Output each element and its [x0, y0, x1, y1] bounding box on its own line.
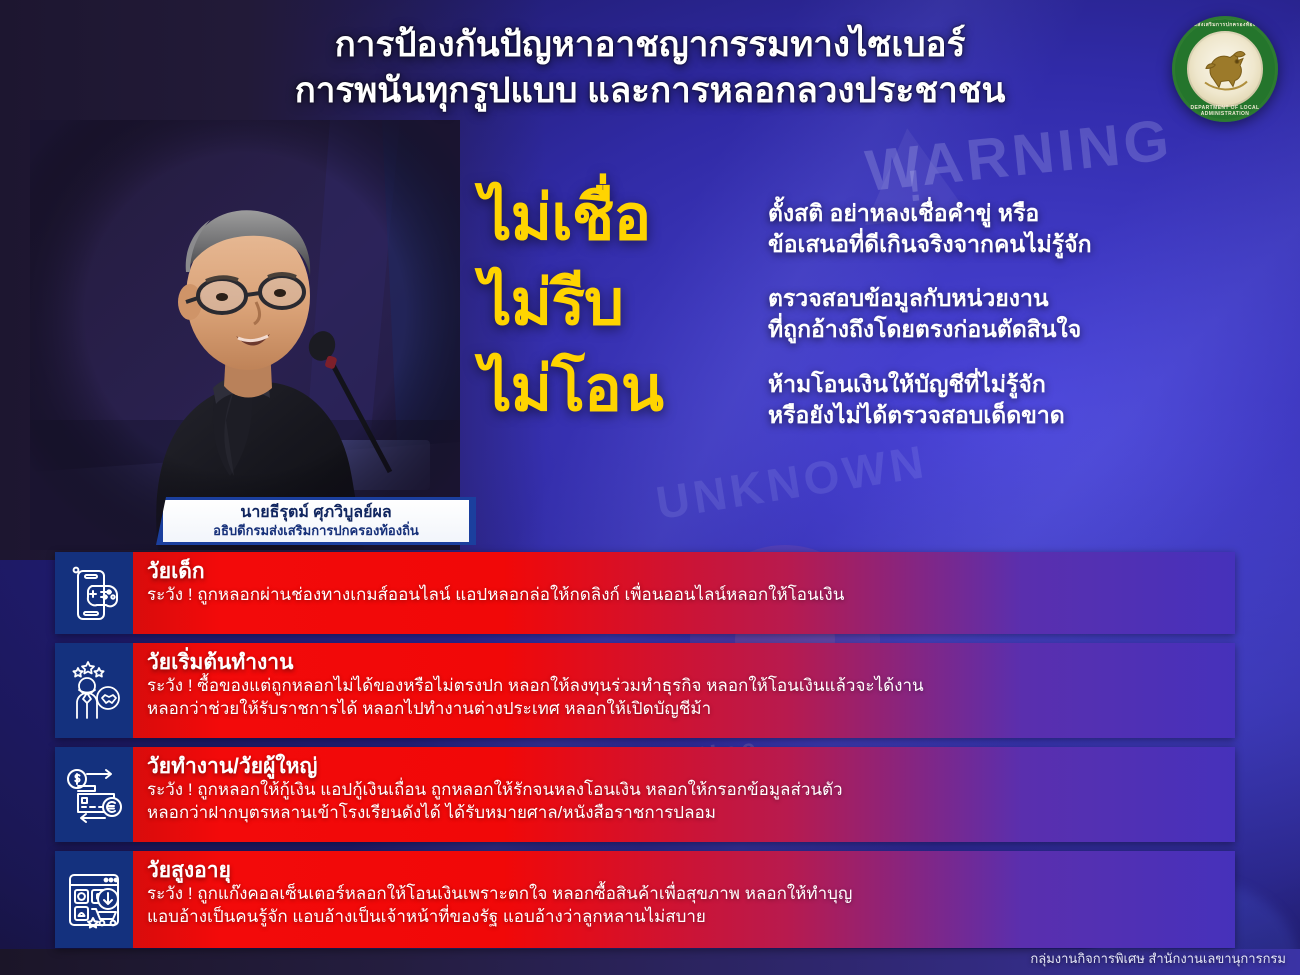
lion-emblem-icon [1193, 35, 1257, 104]
slogan-desc-line-2: ข้อเสนอที่ดีเกินจริงจากคนไม่รู้จัก [768, 229, 1270, 260]
age-group-content: วัยเริ่มต้นทำงาน ระวัง ! ซื้อของแต่ถูกหล… [133, 643, 1235, 738]
slogan-description: ห้ามโอนเงินให้บัญชีที่ไม่รู้จัก หรือยังไ… [768, 357, 1270, 432]
age-group-row: วัยสูงอายุ ระวัง ! ถูกแก๊งคอลเซ็นเตอร์หล… [55, 851, 1235, 948]
age-group-title: วัยเด็ก [147, 559, 1223, 584]
title-line-1: การป้องกันปัญหาอาชญากรรมทางไซเบอร์ [150, 22, 1150, 68]
slogan-item: ไม่เชื่อ ตั้งสติ อย่าหลงเชื่อคำขู่ หรือ … [480, 186, 1270, 261]
age-group-row: วัยเด็ก ระวัง ! ถูกหลอกผ่านช่องทางเกมส์อ… [55, 552, 1235, 634]
infographic-poster: WARNING UNKNOWN Decline Accept [0, 0, 1300, 975]
page-title: การป้องกันปัญหาอาชญากรรมทางไซเบอร์ การพน… [150, 22, 1150, 114]
age-group-row: วัยเริ่มต้นทำงาน ระวัง ! ซื้อของแต่ถูกหล… [55, 643, 1235, 738]
slogan-keyword: ไม่เชื่อ [480, 186, 768, 250]
age-group-line-1: ระวัง ! ถูกแก๊งคอลเซ็นเตอร์หลอกให้โอนเงิ… [147, 883, 1223, 906]
online-shopping-cart-icon [55, 851, 133, 948]
slogan-desc-line-1: ตั้งสติ อย่าหลงเชื่อคำขู่ หรือ [768, 198, 1270, 229]
phone-gamepad-icon [55, 552, 133, 634]
slogan-keyword: ไม่โอน [480, 357, 768, 421]
slogan-item: ไม่โอน ห้ามโอนเงินให้บัญชีที่ไม่รู้จัก ห… [480, 357, 1270, 432]
slogan-desc-line-1: ห้ามโอนเงินให้บัญชีที่ไม่รู้จัก [768, 369, 1270, 400]
slogan-description: ตั้งสติ อย่าหลงเชื่อคำขู่ หรือ ข้อเสนอที… [768, 186, 1270, 261]
speaker-role: อธิบดีกรมส่งเสริมการปกครองท้องถิ่น [213, 523, 419, 539]
poster-header: การป้องกันปัญหาอาชญากรรมทางไซเบอร์ การพน… [0, 0, 1300, 140]
slogan-desc-line-1: ตรวจสอบข้อมูลกับหน่วยงาน [768, 283, 1270, 314]
money-transfer-icon [55, 747, 133, 842]
slogan-keyword: ไม่รีบ [480, 271, 768, 335]
age-group-line-1: ระวัง ! ถูกหลอกให้กู้เงิน แอปกู้เงินเถื่… [147, 779, 1223, 802]
age-group-title: วัยเริ่มต้นทำงาน [147, 650, 1223, 675]
speaker-nameplate: นายธีรุตม์ ศุภวิบูลย์ผล อธิบดีกรมส่งเสริ… [156, 497, 476, 545]
age-group-line-1: ระวัง ! ซื้อของแต่ถูกหลอกไม่ได้ของหรือไม… [147, 675, 1223, 698]
age-group-title: วัยสูงอายุ [147, 858, 1223, 883]
age-group-line-2: หลอกว่าช่วยให้รับราชการได้ หลอกไปทำงานต่… [147, 698, 1223, 721]
slogan-description: ตรวจสอบข้อมูลกับหน่วยงาน ที่ถูกอ้างถึงโด… [768, 271, 1270, 346]
slogan-block: ไม่เชื่อ ตั้งสติ อย่าหลงเชื่อคำขู่ หรือ … [480, 186, 1270, 442]
age-group-content: วัยทำงาน/วัยผู้ใหญ่ ระวัง ! ถูกหลอกให้กู… [133, 747, 1235, 842]
age-group-line-2: หลอกว่าฝากบุตรหลานเข้าโรงเรียนดังได้ ได้… [147, 802, 1223, 825]
age-group-list: วัยเด็ก ระวัง ! ถูกหลอกผ่านช่องทางเกมส์อ… [55, 552, 1235, 957]
seal-top-text: กรมส่งเสริมการปกครองท้องถิ่น [1172, 21, 1278, 29]
speaker-name: นายธีรุตม์ ศุภวิบูลย์ผล [240, 504, 391, 522]
age-group-row: วัยทำงาน/วัยผู้ใหญ่ ระวัง ! ถูกหลอกให้กู… [55, 747, 1235, 842]
department-seal-logo: กรมส่งเสริมการปกครองท้องถิ่น DEPARTMENT … [1172, 16, 1278, 122]
age-group-content: วัยสูงอายุ ระวัง ! ถูกแก๊งคอลเซ็นเตอร์หล… [133, 851, 1235, 948]
slogan-desc-line-2: หรือยังไม่ได้ตรวจสอบเด็ดขาด [768, 400, 1270, 431]
businessman-handshake-stars-icon [55, 643, 133, 738]
title-line-2: การพนันทุกรูปแบบ และการหลอกลวงประชาชน [150, 68, 1150, 114]
speaker-photo [30, 120, 460, 550]
age-group-line-2: แอบอ้างเป็นคนรู้จัก แอบอ้างเป็นเจ้าหน้าท… [147, 906, 1223, 929]
age-group-line-1: ระวัง ! ถูกหลอกผ่านช่องทางเกมส์ออนไลน์ แ… [147, 584, 1223, 607]
age-group-title: วัยทำงาน/วัยผู้ใหญ่ [147, 754, 1223, 779]
age-group-content: วัยเด็ก ระวัง ! ถูกหลอกผ่านช่องทางเกมส์อ… [133, 552, 1235, 634]
seal-bottom-text: DEPARTMENT OF LOCAL ADMINISTRATION [1172, 105, 1278, 117]
footer-credit: กลุ่มงานกิจการพิเศษ สำนักงานเลขานุการกรม [1030, 948, 1286, 969]
slogan-item: ไม่รีบ ตรวจสอบข้อมูลกับหน่วยงาน ที่ถูกอ้… [480, 271, 1270, 346]
slogan-desc-line-2: ที่ถูกอ้างถึงโดยตรงก่อนตัดสินใจ [768, 314, 1270, 345]
